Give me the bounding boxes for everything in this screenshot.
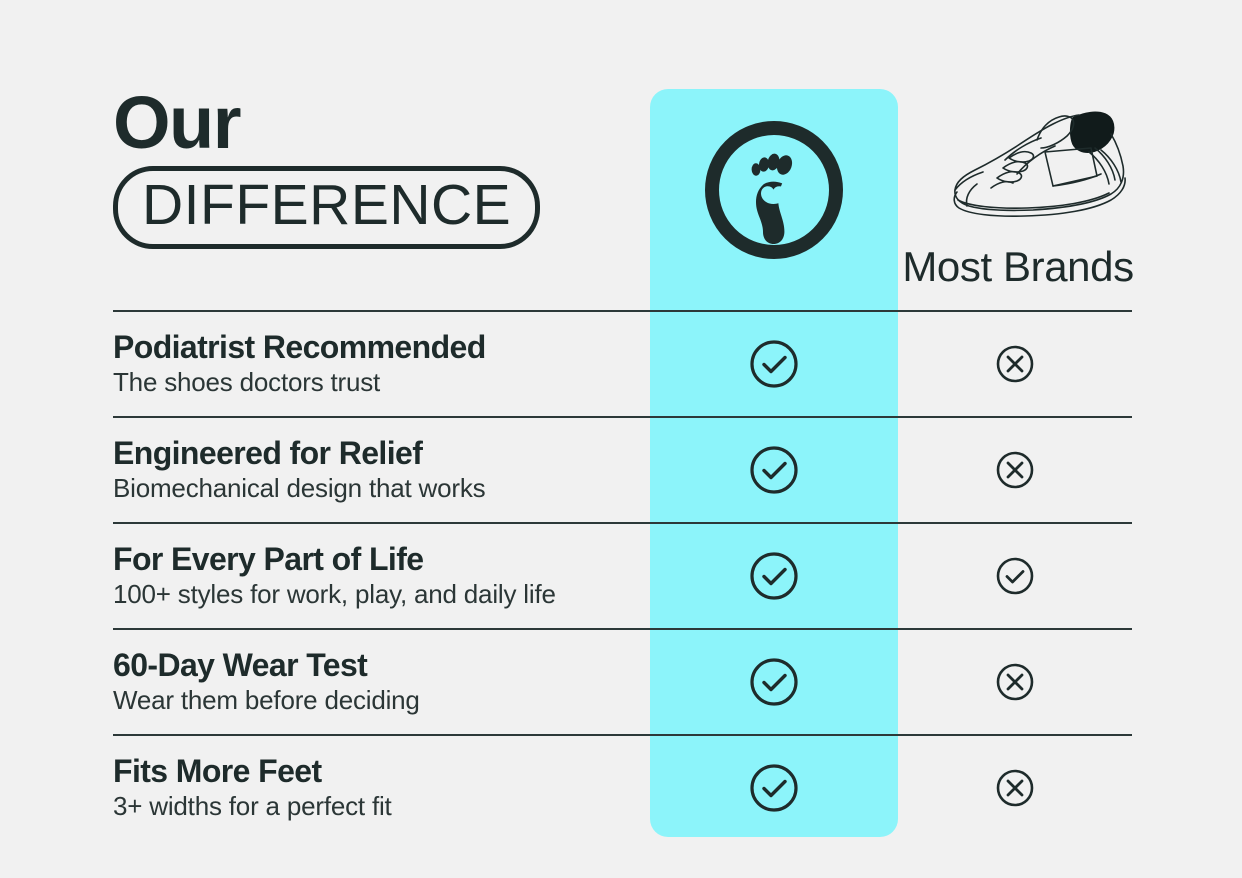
check-circle-icon <box>747 549 801 603</box>
feature-cell: Fits More Feet 3+ widths for a perfect f… <box>113 754 650 822</box>
sneaker-illustration-icon <box>945 100 1150 228</box>
competitor-column-label: Most Brands <box>898 243 1138 291</box>
check-circle-icon <box>747 443 801 497</box>
feature-title: Engineered for Relief <box>113 436 634 472</box>
table-row: For Every Part of Life 100+ styles for w… <box>113 524 1132 628</box>
ours-cell <box>650 524 898 628</box>
footprint-in-circle-icon <box>702 118 846 262</box>
theirs-cell <box>898 736 1132 840</box>
cross-circle-icon <box>994 343 1036 385</box>
ours-cell <box>650 418 898 522</box>
table-row: 60-Day Wear Test Wear them before decidi… <box>113 630 1132 734</box>
feature-subtitle: 3+ widths for a perfect fit <box>113 792 634 822</box>
feature-cell: 60-Day Wear Test Wear them before decidi… <box>113 648 650 716</box>
comparison-page: Our DIFFERENCE <box>0 0 1242 878</box>
table-row: Engineered for Relief Biomechanical desi… <box>113 418 1132 522</box>
feature-cell: Engineered for Relief Biomechanical desi… <box>113 436 650 504</box>
cross-circle-icon <box>994 661 1036 703</box>
ours-cell <box>650 312 898 416</box>
feature-title: For Every Part of Life <box>113 542 634 578</box>
feature-title: Fits More Feet <box>113 754 634 790</box>
table-row: Podiatrist Recommended The shoes doctors… <box>113 312 1132 416</box>
theirs-cell <box>898 312 1132 416</box>
ours-cell <box>650 630 898 734</box>
feature-subtitle: Biomechanical design that works <box>113 474 634 504</box>
feature-subtitle: 100+ styles for work, play, and daily li… <box>113 580 634 610</box>
theirs-cell <box>898 524 1132 628</box>
cross-circle-icon <box>994 767 1036 809</box>
title-line-our: Our <box>113 88 633 158</box>
theirs-cell <box>898 630 1132 734</box>
theirs-cell <box>898 418 1132 522</box>
title-line-difference: DIFFERENCE <box>142 177 511 234</box>
cross-circle-icon <box>994 449 1036 491</box>
feature-title: 60-Day Wear Test <box>113 648 634 684</box>
title-difference-pill: DIFFERENCE <box>113 166 540 249</box>
feature-subtitle: The shoes doctors trust <box>113 368 634 398</box>
table-row: Fits More Feet 3+ widths for a perfect f… <box>113 736 1132 840</box>
comparison-table: Podiatrist Recommended The shoes doctors… <box>113 310 1132 840</box>
feature-cell: Podiatrist Recommended The shoes doctors… <box>113 330 650 398</box>
check-circle-icon <box>747 337 801 391</box>
check-circle-icon <box>747 655 801 709</box>
page-title: Our DIFFERENCE <box>113 88 633 249</box>
feature-subtitle: Wear them before deciding <box>113 686 634 716</box>
feature-cell: For Every Part of Life 100+ styles for w… <box>113 542 650 610</box>
check-circle-icon <box>994 555 1036 597</box>
check-circle-icon <box>747 761 801 815</box>
ours-cell <box>650 736 898 840</box>
header: Our DIFFERENCE <box>0 0 1242 306</box>
feature-title: Podiatrist Recommended <box>113 330 634 366</box>
